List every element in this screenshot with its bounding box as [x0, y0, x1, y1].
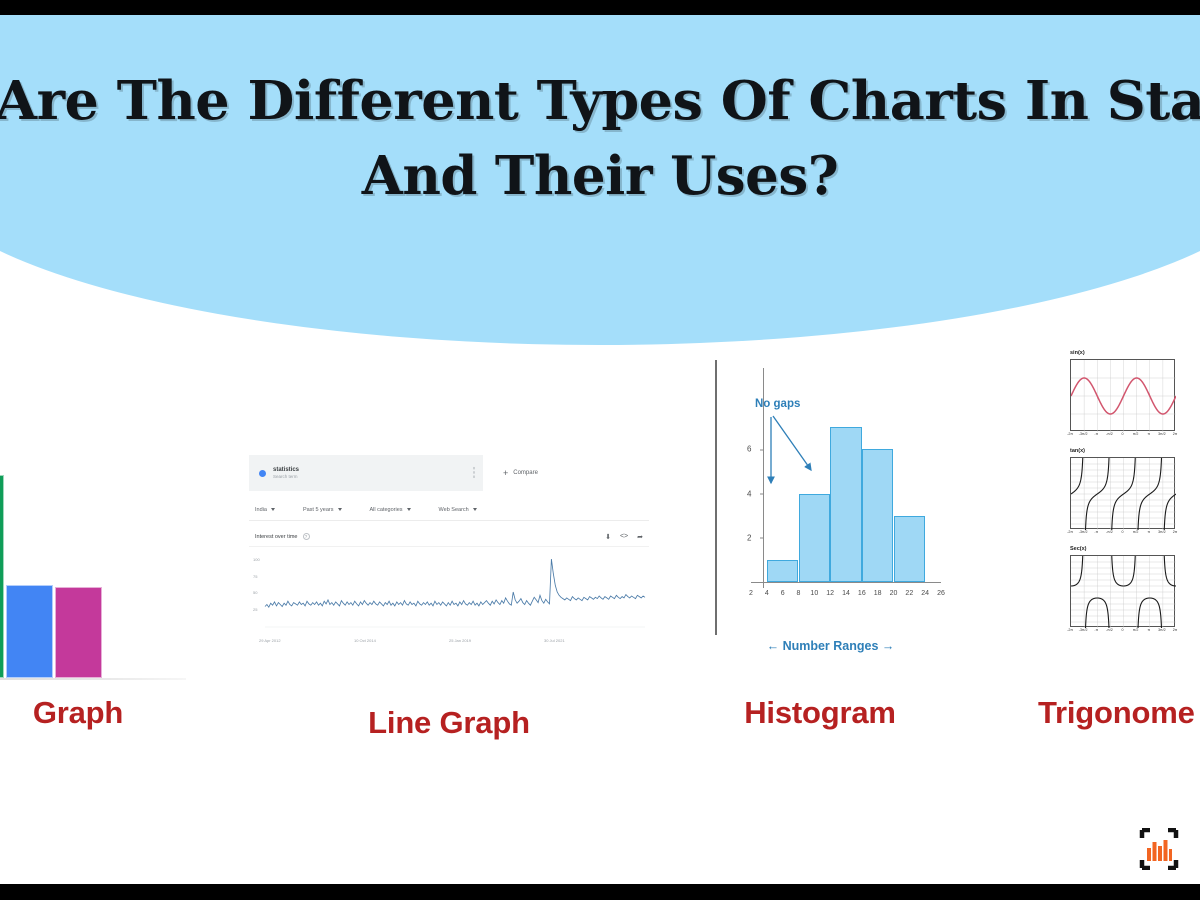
trends-section-header: Interest over time ? ⬇ <> ➦ [249, 527, 649, 547]
trig-tan-svg [1071, 458, 1176, 530]
histogram-chart: 246 2468101214161820222426 No gaps [735, 360, 935, 635]
histogram-bar [830, 427, 862, 582]
trig-x-tick: -π [1094, 432, 1098, 436]
trends-search-term: statistics [273, 467, 299, 473]
chevron-down-icon [338, 508, 342, 511]
histogram-x-tick: 18 [874, 590, 882, 597]
histogram-bar [894, 516, 926, 582]
trends-section-title: Interest over time [255, 534, 298, 540]
trig-plot-sec [1070, 555, 1175, 627]
trig-x-tick: π/2 [1133, 628, 1138, 632]
trig-x-tick: -2π [1067, 432, 1073, 436]
bar-graph-bar [55, 587, 102, 678]
trig-x-tick: 3π/2 [1158, 530, 1165, 534]
trends-x-tick: 30 Jul 2021 [544, 638, 565, 643]
histogram-x-axis-label: ← Number Ranges → [723, 639, 938, 653]
trends-filter-bar: India Past 5 years All categories Web Se… [249, 499, 649, 521]
trig-x-tick: -2π [1067, 628, 1073, 632]
bar-graph-baseline [0, 678, 186, 680]
trig-x-tick: -π/2 [1106, 530, 1113, 534]
trig-sec-svg [1071, 556, 1176, 628]
trends-x-tick: 29 Apr 2012 [259, 638, 281, 643]
series-dot-icon [259, 470, 266, 477]
download-icon[interactable]: ⬇ [605, 533, 611, 541]
trig-label-sin: sin(x) [1070, 350, 1085, 356]
caption-bar-graph: Graph [0, 695, 228, 731]
kebab-menu-icon[interactable] [473, 466, 475, 479]
trends-y-tick: 25 [253, 607, 257, 612]
bar-graph-bar [6, 585, 53, 678]
trends-search-term-sub: Search term [273, 474, 299, 479]
page-title: Are The Different Types Of Charts In Sta… [0, 15, 1200, 265]
trig-label-sec: Sec(x) [1070, 546, 1087, 552]
histogram-x-tick: 16 [858, 590, 866, 597]
histogram-x-tick: 6 [781, 590, 785, 597]
trig-x-tick: 0 [1122, 432, 1124, 436]
trends-filter-time-label: Past 5 years [303, 507, 334, 513]
letterbox-bar-top [0, 0, 1200, 15]
histogram-x-axis-label-text: Number Ranges [783, 639, 879, 653]
trends-y-tick: 50 [253, 590, 257, 595]
plus-icon: + [503, 469, 508, 478]
histogram-x-tick: 22 [905, 590, 913, 597]
trends-filter-search-type-label: Web Search [439, 507, 469, 513]
bar-chart-logo[interactable] [1136, 828, 1182, 870]
trig-xticks-sin: -2π-3π/2-π-π/20π/2π3π/22π [1070, 432, 1175, 440]
trig-x-tick: π/2 [1133, 530, 1138, 534]
trends-filter-search-type[interactable]: Web Search [439, 507, 477, 513]
trig-x-tick: 2π [1173, 432, 1177, 436]
bar-graph-chart [0, 455, 188, 680]
arrow-left-icon: ← [767, 639, 780, 653]
trig-xticks-tan: -2π-3π/2-π-π/20π/2π3π/22π [1070, 530, 1175, 538]
trends-y-tick: 75 [253, 574, 257, 579]
trig-subplot-tan: tan(x) -2π-3π/2-π-π/20π/2π3π/22π [1060, 448, 1180, 541]
histogram-y-tick: 2 [747, 533, 751, 542]
trig-plot-tan [1070, 457, 1175, 529]
histogram-bar [799, 494, 831, 582]
trig-sin-svg [1071, 360, 1176, 432]
trends-y-tick: 100 [253, 557, 260, 562]
trends-x-tick: 10 Oct 2014 [354, 638, 376, 643]
histogram-x-tick: 26 [937, 590, 945, 597]
trends-search-row: statistics Search term + Compare [249, 455, 649, 491]
chart-gallery: Graph statistics Search term + [0, 345, 1200, 795]
trig-xticks-sec: -2π-3π/2-π-π/20π/2π3π/22π [1070, 628, 1175, 636]
trig-x-tick: -3π/2 [1079, 432, 1088, 436]
trig-x-tick: -3π/2 [1079, 530, 1088, 534]
caption-line-graph: Line Graph [249, 705, 649, 741]
trigonometry-chart-stack: sin(x) -2π-3π/2-π-π/20π/2π3π/22π tan(x) … [1060, 350, 1180, 640]
bar-graph-bar [0, 475, 4, 678]
trig-x-tick: -2π [1067, 530, 1073, 534]
trig-x-tick: 2π [1173, 530, 1177, 534]
histogram-no-gaps-annotation: No gaps [755, 398, 800, 410]
google-trends-card: statistics Search term + Compare India [249, 455, 649, 655]
trig-x-tick: -π/2 [1106, 628, 1113, 632]
trends-filter-category-label: All categories [370, 507, 403, 513]
trends-line-plot: 100755025 29 Apr 201210 Oct 201425 Jan 2… [249, 551, 649, 643]
embed-icon[interactable]: <> [620, 533, 628, 540]
trends-filter-region[interactable]: India [255, 507, 275, 513]
histogram-x-tick: 20 [890, 590, 898, 597]
trends-series-path [265, 559, 645, 607]
title-line-1: Are The Different Types Of Charts In Sta [0, 73, 1200, 130]
trends-filter-region-label: India [255, 507, 267, 513]
chevron-down-icon [473, 508, 477, 511]
trends-line-svg [249, 551, 649, 643]
histogram-x-tick: 8 [797, 590, 801, 597]
trig-x-tick: π [1148, 530, 1150, 534]
help-icon[interactable]: ? [303, 533, 310, 540]
histogram-y-tick: 4 [747, 489, 751, 498]
panel-trigonometry: sin(x) -2π-3π/2-π-π/20π/2π3π/22π tan(x) … [1042, 345, 1200, 745]
chevron-down-icon [271, 508, 275, 511]
caption-histogram: Histogram [690, 695, 950, 731]
trends-filter-category[interactable]: All categories [370, 507, 411, 513]
histogram-x-tick: 2 [749, 590, 753, 597]
trig-x-tick: -π [1094, 530, 1098, 534]
trig-x-tick: -π [1094, 628, 1098, 632]
histogram-x-tick: 4 [765, 590, 769, 597]
trig-x-tick: π [1148, 628, 1150, 632]
trig-x-tick: 3π/2 [1158, 432, 1165, 436]
infographic-page: Are The Different Types Of Charts In Sta… [0, 0, 1200, 900]
histogram-x-tick: 24 [921, 590, 929, 597]
histogram-bar [862, 449, 894, 582]
letterbox-bar-bottom [0, 884, 1200, 900]
trig-x-tick: 3π/2 [1158, 628, 1165, 632]
trends-compare-button[interactable]: + Compare [503, 455, 538, 491]
trig-subplot-sin: sin(x) -2π-3π/2-π-π/20π/2π3π/22π [1060, 350, 1180, 443]
trends-search-chip[interactable]: statistics Search term [249, 455, 483, 491]
trig-label-tan: tan(x) [1070, 448, 1085, 454]
arrow-right-icon: → [882, 639, 895, 653]
histogram-bar [767, 560, 799, 582]
trends-x-tick: 25 Jan 2019 [449, 638, 471, 643]
histogram-x-tick: 10 [810, 590, 818, 597]
caption-trigonometry: Trigonome [1038, 695, 1200, 731]
share-icon[interactable]: ➦ [637, 533, 643, 541]
histogram-y-tick: 6 [747, 445, 751, 454]
trig-x-tick: 0 [1122, 628, 1124, 632]
histogram-left-rule [715, 360, 717, 635]
trig-x-tick: -3π/2 [1079, 628, 1088, 632]
histogram-x-tick: 14 [842, 590, 850, 597]
title-line-2: And Their Uses? [362, 148, 839, 205]
trends-compare-label: Compare [513, 470, 538, 476]
panel-bar-graph: Graph [0, 345, 228, 745]
panel-histogram: 246 2468101214161820222426 No gaps ← Num… [690, 345, 950, 745]
trig-subplot-sec: Sec(x) -2π-3π/2-π-π/20π/2π3π/22π [1060, 546, 1180, 639]
trig-x-tick: π/2 [1133, 432, 1138, 436]
trig-x-tick: 0 [1122, 530, 1124, 534]
trends-filter-time[interactable]: Past 5 years [303, 507, 342, 513]
panel-line-graph: statistics Search term + Compare India [249, 455, 649, 755]
trig-x-tick: -π/2 [1106, 432, 1113, 436]
trig-x-tick: π [1148, 432, 1150, 436]
trig-x-tick: 2π [1173, 628, 1177, 632]
trig-plot-sin [1070, 359, 1175, 431]
histogram-x-tick: 12 [826, 590, 834, 597]
chevron-down-icon [407, 508, 411, 511]
